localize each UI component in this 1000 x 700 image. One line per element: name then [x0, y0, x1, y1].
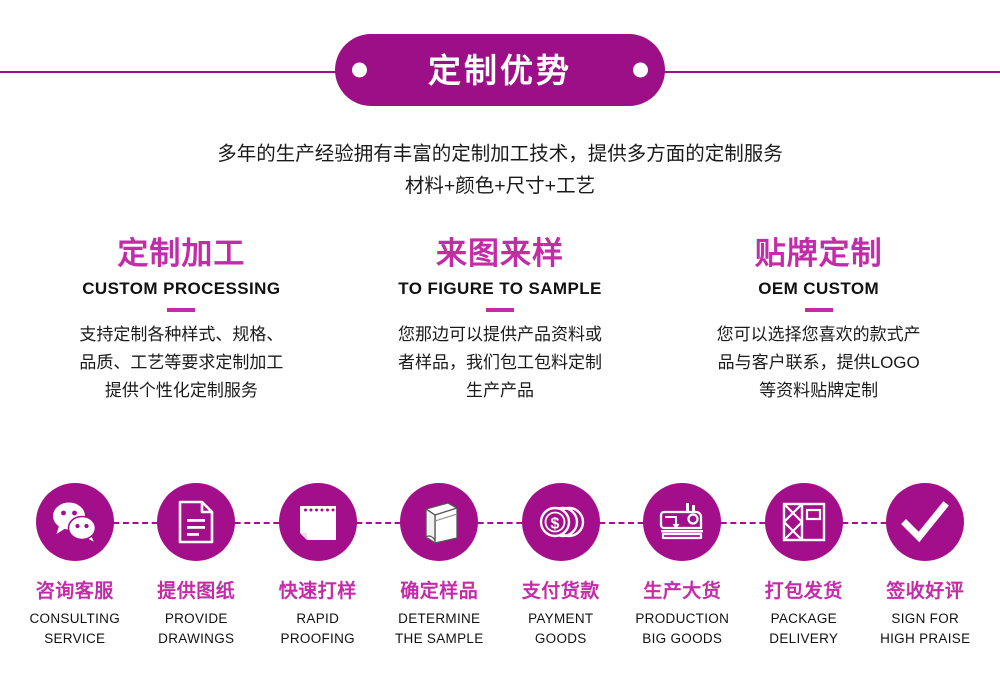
- page-title-banner: 定制优势: [335, 34, 665, 106]
- feature-card-oem-custom: 贴牌定制 OEM CUSTOM 您可以选择您喜欢的款式产 品与客户联系，提供LO…: [659, 236, 978, 405]
- step-icon-circle: [643, 483, 721, 561]
- step-en-line: BIG GOODS: [622, 629, 744, 649]
- step-label-en: DETERMINE THE SAMPLE: [379, 609, 501, 649]
- step-icon-circle: [400, 483, 478, 561]
- step-en-line: CONSULTING: [14, 609, 136, 629]
- banner-dot-right-icon: [633, 63, 648, 78]
- feature-desc-line: 等资料贴牌定制: [667, 377, 970, 405]
- feature-subtitle: TO FIGURE TO SAMPLE: [349, 279, 652, 299]
- feature-subtitle: OEM CUSTOM: [667, 279, 970, 299]
- step-en-line: GOODS: [500, 629, 622, 649]
- customization-advantage-page: 定制优势 多年的生产经验拥有丰富的定制加工技术，提供多方面的定制服务 材料+颜色…: [0, 0, 1000, 700]
- process-step-rapid-proofing: 快速打样 RAPID PROOFING: [257, 483, 379, 649]
- feature-card-to-figure-to-sample: 来图来样 TO FIGURE TO SAMPLE 您那边可以提供产品资料或 者样…: [341, 236, 660, 405]
- feature-description: 支持定制各种样式、规格、 品质、工艺等要求定制加工 提供个性化定制服务: [30, 321, 333, 405]
- step-label: 打包发货: [743, 576, 865, 603]
- step-icon-circle: [157, 483, 235, 561]
- step-label-en: PAYMENT GOODS: [500, 609, 622, 649]
- step-label-en: RAPID PROOFING: [257, 609, 379, 649]
- step-icon-circle: $: [522, 483, 600, 561]
- process-step-provide-drawings: 提供图纸 PROVIDE DRAWINGS: [136, 483, 258, 649]
- subtitle-block: 多年的生产经验拥有丰富的定制加工技术，提供多方面的定制服务 材料+颜色+尺寸+工…: [0, 138, 1000, 202]
- step-en-line: HIGH PRAISE: [865, 629, 987, 649]
- feature-description: 您可以选择您喜欢的款式产 品与客户联系，提供LOGO 等资料贴牌定制: [667, 321, 970, 405]
- step-label-en: PROVIDE DRAWINGS: [136, 609, 258, 649]
- header-section: 定制优势: [0, 0, 1000, 115]
- wechat-icon: [50, 500, 100, 544]
- step-icon-circle: [886, 483, 964, 561]
- sample-bag-icon: [417, 499, 461, 545]
- feature-divider-dash: [167, 308, 195, 312]
- step-label: 签收好评: [865, 576, 987, 603]
- process-step-payment-goods: $ 支付货款 PAYMENT GOODS: [500, 483, 622, 649]
- step-label-en: PRODUCTION BIG GOODS: [622, 609, 744, 649]
- step-icon-circle: [279, 483, 357, 561]
- feature-desc-line: 您那边可以提供产品资料或: [349, 321, 652, 349]
- step-label: 咨询客服: [14, 576, 136, 603]
- step-icon-circle: [36, 483, 114, 561]
- checkmark-icon: [901, 500, 949, 544]
- subtitle-line-1: 多年的生产经验拥有丰富的定制加工技术，提供多方面的定制服务: [0, 138, 1000, 170]
- step-en-line: PROOFING: [257, 629, 379, 649]
- feature-card-custom-processing: 定制加工 CUSTOM PROCESSING 支持定制各种样式、规格、 品质、工…: [22, 236, 341, 405]
- feature-desc-line: 者样品，我们包工包料定制: [349, 349, 652, 377]
- step-icon-circle: [765, 483, 843, 561]
- feature-subtitle: CUSTOM PROCESSING: [30, 279, 333, 299]
- step-en-line: PROVIDE: [136, 609, 258, 629]
- feature-divider-dash: [805, 308, 833, 312]
- sewing-machine-icon: [656, 500, 708, 544]
- step-en-line: PAYMENT: [500, 609, 622, 629]
- step-en-line: DELIVERY: [743, 629, 865, 649]
- step-en-line: DRAWINGS: [136, 629, 258, 649]
- svg-text:$: $: [550, 516, 559, 533]
- step-label: 支付货款: [500, 576, 622, 603]
- step-label-en: CONSULTING SERVICE: [14, 609, 136, 649]
- feature-title: 贴牌定制: [667, 236, 970, 272]
- step-en-line: THE SAMPLE: [379, 629, 501, 649]
- step-label-en: PACKAGE DELIVERY: [743, 609, 865, 649]
- features-row: 定制加工 CUSTOM PROCESSING 支持定制各种样式、规格、 品质、工…: [0, 236, 1000, 405]
- step-en-line: RAPID: [257, 609, 379, 629]
- feature-desc-line: 生产产品: [349, 377, 652, 405]
- feature-desc-line: 您可以选择您喜欢的款式产: [667, 321, 970, 349]
- step-label: 提供图纸: [136, 576, 258, 603]
- process-steps-row: 咨询客服 CONSULTING SERVICE: [0, 483, 1000, 649]
- process-step-consulting-service: 咨询客服 CONSULTING SERVICE: [14, 483, 136, 649]
- process-step-determine-the-sample: 确定样品 DETERMINE THE SAMPLE: [379, 483, 501, 649]
- step-label-en: SIGN FOR HIGH PRAISE: [865, 609, 987, 649]
- feature-desc-line: 品与客户联系，提供LOGO: [667, 349, 970, 377]
- banner-dot-left-icon: [352, 63, 367, 78]
- feature-title: 来图来样: [349, 236, 652, 272]
- step-en-line: PRODUCTION: [622, 609, 744, 629]
- step-en-line: PACKAGE: [743, 609, 865, 629]
- document-icon: [177, 499, 215, 545]
- feature-description: 您那边可以提供产品资料或 者样品，我们包工包料定制 生产产品: [349, 321, 652, 405]
- step-en-line: SERVICE: [14, 629, 136, 649]
- step-en-line: SIGN FOR: [865, 609, 987, 629]
- coins-dollar-icon: $: [537, 500, 585, 544]
- step-label: 生产大货: [622, 576, 744, 603]
- step-label: 快速打样: [257, 576, 379, 603]
- page-title: 定制优势: [428, 54, 572, 87]
- carton-box-icon: [781, 500, 827, 544]
- step-en-line: DETERMINE: [379, 609, 501, 629]
- notepad-icon: [296, 500, 340, 544]
- step-label: 确定样品: [379, 576, 501, 603]
- feature-desc-line: 品质、工艺等要求定制加工: [30, 349, 333, 377]
- feature-divider-dash: [486, 308, 514, 312]
- feature-desc-line: 提供个性化定制服务: [30, 377, 333, 405]
- process-step-sign-for-high-praise: 签收好评 SIGN FOR HIGH PRAISE: [865, 483, 987, 649]
- process-step-package-delivery: 打包发货 PACKAGE DELIVERY: [743, 483, 865, 649]
- feature-title: 定制加工: [30, 236, 333, 272]
- process-step-production-big-goods: 生产大货 PRODUCTION BIG GOODS: [622, 483, 744, 649]
- feature-desc-line: 支持定制各种样式、规格、: [30, 321, 333, 349]
- subtitle-line-2: 材料+颜色+尺寸+工艺: [0, 170, 1000, 202]
